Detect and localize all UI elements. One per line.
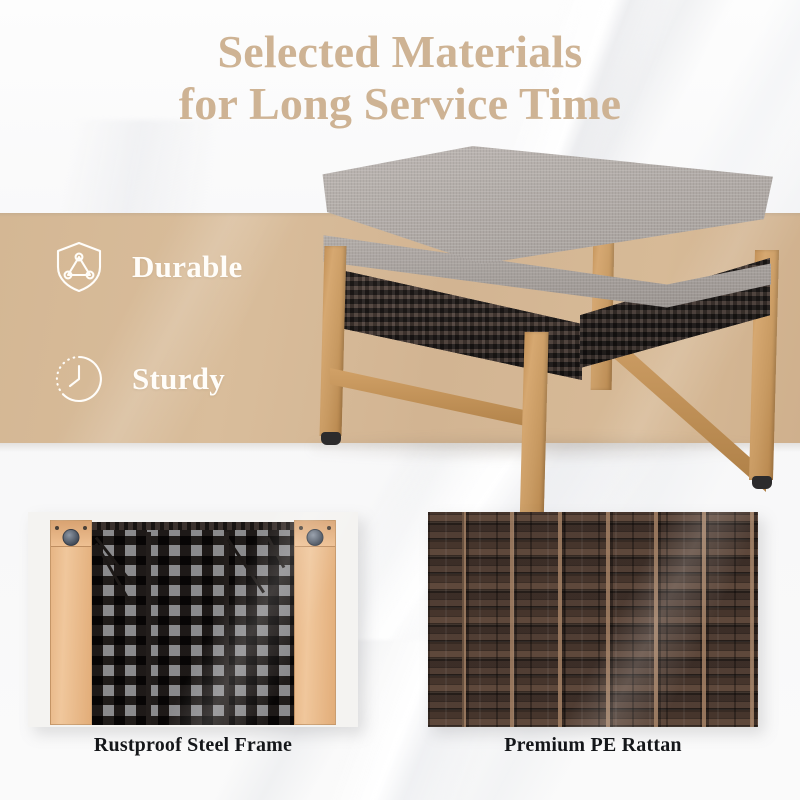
ottoman-leg-front-left [320, 246, 347, 436]
wood-leg-rail-left [50, 520, 92, 725]
headline-line-1: Selected Materials [217, 26, 582, 77]
feature-label: Sturdy [132, 361, 225, 397]
bolt-hole [83, 526, 87, 530]
frame-vertical-bar [146, 532, 151, 725]
shield-molecule-icon [48, 236, 110, 298]
ottoman-leg-front-right [519, 332, 548, 532]
page-title: Selected Materials for Long Service Time [0, 26, 800, 130]
pe-rattan-photo [428, 512, 758, 727]
rattan-seam-shading [428, 512, 758, 727]
clock-icon [48, 348, 110, 410]
hardware-knob-icon [63, 529, 80, 546]
panel-caption: Rustproof Steel Frame [28, 734, 358, 757]
hero-product-ottoman [300, 138, 790, 513]
wood-leg-rail-right [294, 520, 336, 725]
feature-item-sturdy: Sturdy [48, 348, 225, 410]
bolt-hole [299, 526, 303, 530]
bolt-hole [55, 526, 59, 530]
feature-label: Durable [132, 249, 243, 285]
marketing-image-canvas: Selected Materials for Long Service Time… [0, 0, 800, 800]
detail-panel-steel-frame: Rustproof Steel Frame [28, 512, 358, 727]
bolt-hole [327, 526, 331, 530]
frame-vertical-bar [224, 532, 229, 725]
steel-frame-photo [28, 512, 358, 727]
feature-item-durable: Durable [48, 236, 243, 298]
hardware-knob-icon [307, 529, 324, 546]
ottoman-foot-cap [752, 476, 772, 489]
panel-caption: Premium PE Rattan [428, 734, 758, 757]
headline-line-2: for Long Service Time [0, 78, 800, 130]
steel-lattice-grid [92, 530, 294, 725]
ottoman-rail-front [330, 368, 535, 428]
ottoman-foot-cap [321, 432, 341, 445]
detail-panel-pe-rattan: Premium PE Rattan [428, 512, 758, 727]
